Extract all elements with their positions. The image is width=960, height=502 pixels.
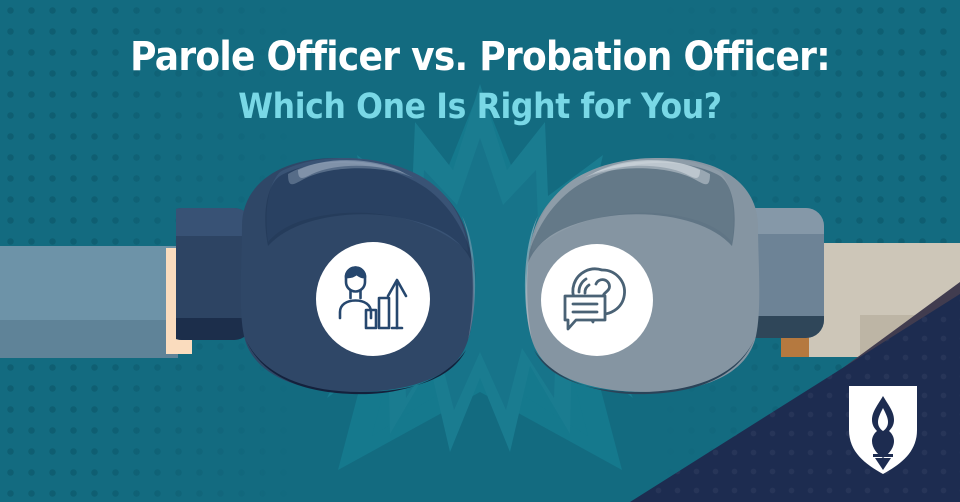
left-arm-sleeve-shadow (0, 320, 178, 358)
right-boxing-glove (480, 152, 828, 396)
rasmussen-shield-flame-logo (845, 380, 921, 476)
person-growth-chart-icon (332, 256, 416, 340)
banner-graphic: Parole Officer vs. Probation Officer: Wh… (0, 0, 960, 502)
speech-bubble-question-icon (557, 258, 639, 340)
